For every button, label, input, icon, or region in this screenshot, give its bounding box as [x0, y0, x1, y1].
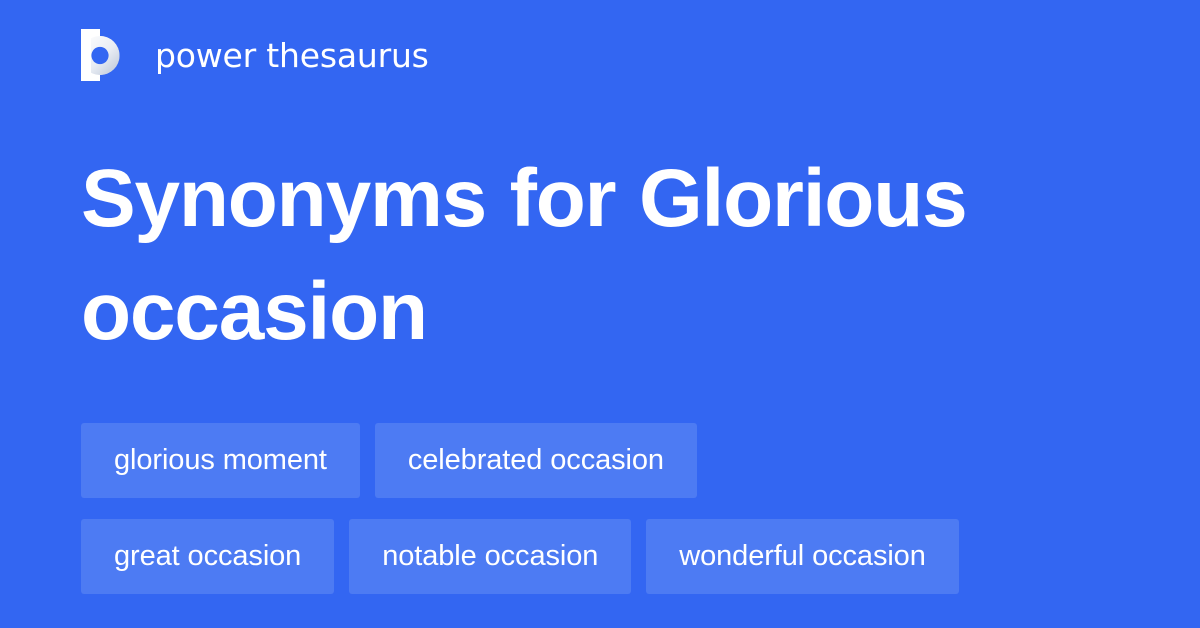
synonym-chip[interactable]: notable occasion [349, 519, 631, 594]
synonym-chip[interactable]: glorious moment [81, 423, 360, 498]
brand-wordmark: Power Thesaurus [155, 39, 429, 72]
brand-header[interactable]: Power Thesaurus [81, 28, 429, 82]
synonym-chip-row: glorious moment celebrated occasion [81, 423, 1121, 498]
page-title: Synonyms for Glorious occasion [81, 142, 1081, 368]
synonym-chip[interactable]: great occasion [81, 519, 334, 594]
power-thesaurus-b-logo-icon [81, 29, 127, 81]
synonym-chip-list: glorious moment celebrated occasion grea… [81, 423, 1121, 594]
synonym-chip-row: great occasion notable occasion wonderfu… [81, 519, 1121, 594]
synonym-chip[interactable]: wonderful occasion [646, 519, 958, 594]
synonym-chip[interactable]: celebrated occasion [375, 423, 697, 498]
social-card: Power Thesaurus Synonyms for Glorious oc… [0, 0, 1200, 628]
